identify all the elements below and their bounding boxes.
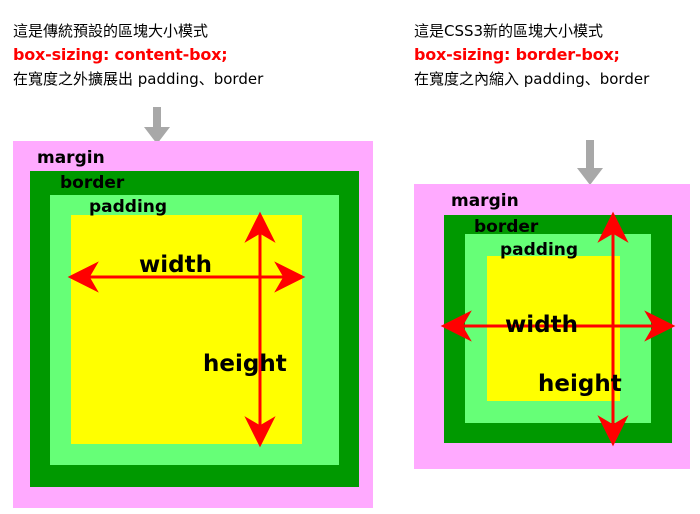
left-down-arrow-icon bbox=[143, 107, 171, 145]
right-caption-line-3: 在寬度之內縮入 padding、border bbox=[414, 68, 649, 91]
diagram-canvas: 這是傳統預設的區塊大小模式 box-sizing: content-box; 在… bbox=[0, 0, 700, 514]
left-caption-line-3: 在寬度之外擴展出 padding、border bbox=[13, 68, 263, 91]
right-caption-code: box-sizing: border-box; bbox=[414, 43, 649, 68]
padding-label-left: padding bbox=[89, 199, 167, 216]
border-label-right: border bbox=[474, 219, 538, 236]
margin-label-left: margin bbox=[37, 150, 105, 167]
right-caption-block: 這是CSS3新的區塊大小模式 box-sizing: border-box; 在… bbox=[414, 20, 649, 91]
left-caption-block: 這是傳統預設的區塊大小模式 box-sizing: content-box; 在… bbox=[13, 20, 263, 91]
right-down-arrow-icon bbox=[576, 140, 604, 186]
border-box-diagram: margin border padding width bbox=[414, 184, 690, 469]
content-box-diagram: margin border padding width bbox=[13, 141, 373, 508]
margin-label-right: margin bbox=[451, 193, 519, 210]
width-label-left: width bbox=[139, 254, 212, 277]
height-label-left: height bbox=[203, 353, 287, 376]
padding-label-right: padding bbox=[500, 242, 578, 259]
height-label-right: height bbox=[538, 373, 622, 396]
right-caption-line-1: 這是CSS3新的區塊大小模式 bbox=[414, 20, 649, 43]
content-layer-left bbox=[71, 215, 302, 444]
left-caption-code: box-sizing: content-box; bbox=[13, 43, 263, 68]
border-label-left: border bbox=[60, 175, 124, 192]
left-caption-line-1: 這是傳統預設的區塊大小模式 bbox=[13, 20, 263, 43]
width-label-right: width bbox=[505, 314, 578, 337]
